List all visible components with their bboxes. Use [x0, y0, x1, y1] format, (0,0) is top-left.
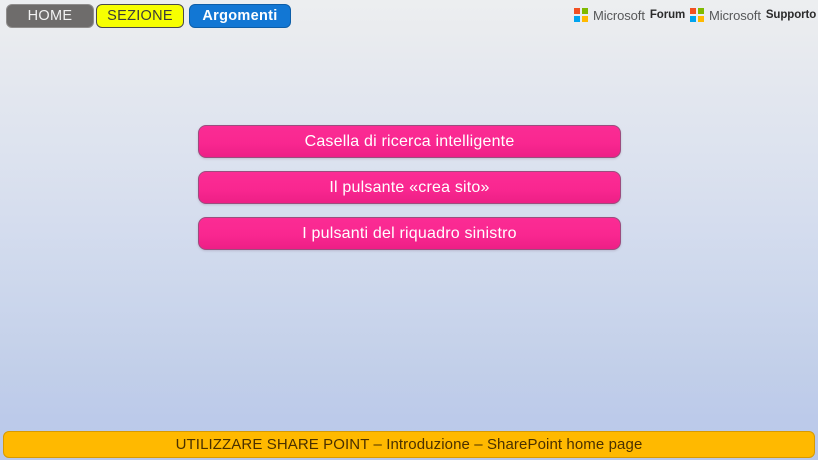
microsoft-logo-icon: [574, 8, 588, 22]
logo-square-blue: [690, 16, 696, 22]
microsoft-logo-icon: [690, 8, 704, 22]
topic-button-search-box[interactable]: Casella di ricerca intelligente: [198, 125, 621, 158]
logo-square-yellow: [582, 16, 588, 22]
microsoft-wordmark-supporto: Microsoft: [709, 8, 761, 23]
microsoft-product-supporto: Supporto: [766, 9, 816, 21]
topic-button-list: Casella di ricerca intelligente Il pulsa…: [198, 125, 621, 263]
microsoft-forum-link[interactable]: Microsoft Forum: [574, 6, 685, 24]
slide-canvas: HOME SEZIONE Argomenti Microsoft Forum M…: [0, 0, 818, 460]
top-navigation-bar: HOME SEZIONE Argomenti Microsoft Forum M…: [0, 0, 818, 34]
logo-square-red: [690, 8, 696, 14]
topic-button-create-site[interactable]: Il pulsante «crea sito»: [198, 171, 621, 204]
microsoft-supporto-link[interactable]: Microsoft Supporto: [690, 6, 816, 24]
footer-title-bar: UTILIZZARE SHARE POINT – Introduzione – …: [3, 431, 815, 458]
logo-square-green: [698, 8, 704, 14]
nav-button-argomenti[interactable]: Argomenti: [189, 4, 291, 28]
nav-button-home[interactable]: HOME: [6, 4, 94, 28]
topic-button-left-pane-buttons[interactable]: I pulsanti del riquadro sinistro: [198, 217, 621, 250]
microsoft-wordmark-forum: Microsoft: [593, 8, 645, 23]
logo-square-yellow: [698, 16, 704, 22]
logo-square-green: [582, 8, 588, 14]
nav-button-sezione[interactable]: SEZIONE: [96, 4, 184, 28]
logo-square-blue: [574, 16, 580, 22]
microsoft-product-forum: Forum: [650, 9, 685, 21]
logo-square-red: [574, 8, 580, 14]
